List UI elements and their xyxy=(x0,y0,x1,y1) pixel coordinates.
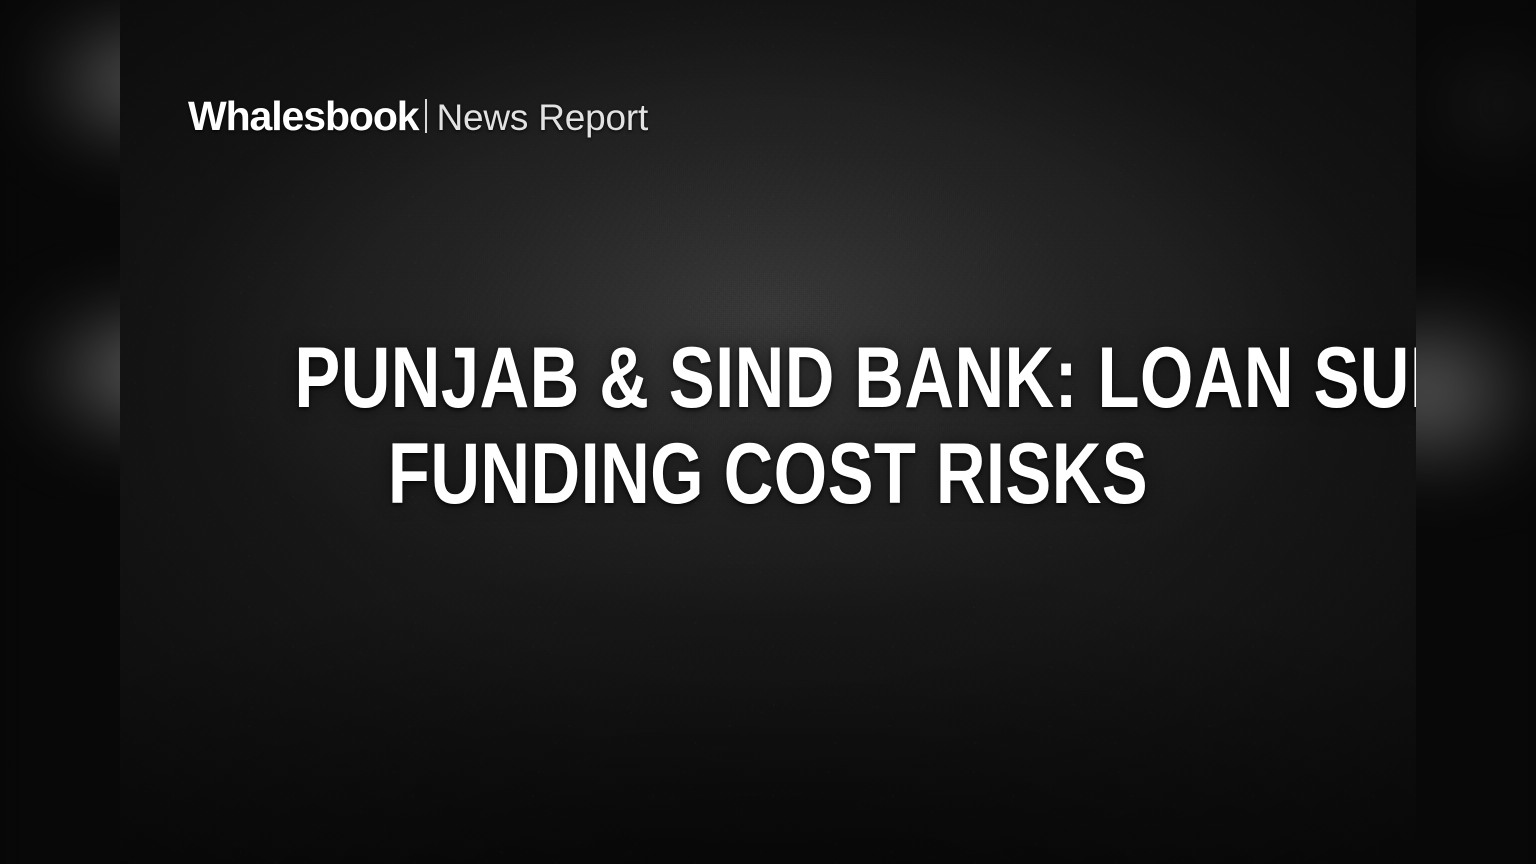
panel-content: Whalesbook News Report PUNJAB & SIND BAN… xyxy=(120,0,1416,864)
brand-subtitle: News Report xyxy=(436,99,648,136)
headline: PUNJAB & SIND BANK: LOAN SURGE MASKS FUN… xyxy=(120,330,1416,522)
news-report-card: Whalesbook News Report PUNJAB & SIND BAN… xyxy=(0,0,1536,864)
brand-logo: Whalesbook News Report xyxy=(188,96,648,137)
brand-name: Whalesbook xyxy=(188,96,418,137)
content-panel: Whalesbook News Report PUNJAB & SIND BAN… xyxy=(120,0,1416,864)
brand-divider-icon xyxy=(425,99,427,133)
headline-line-2: FUNDING COST RISKS xyxy=(294,426,1241,522)
headline-line-1: PUNJAB & SIND BANK: LOAN SURGE MASKS xyxy=(294,330,1241,426)
